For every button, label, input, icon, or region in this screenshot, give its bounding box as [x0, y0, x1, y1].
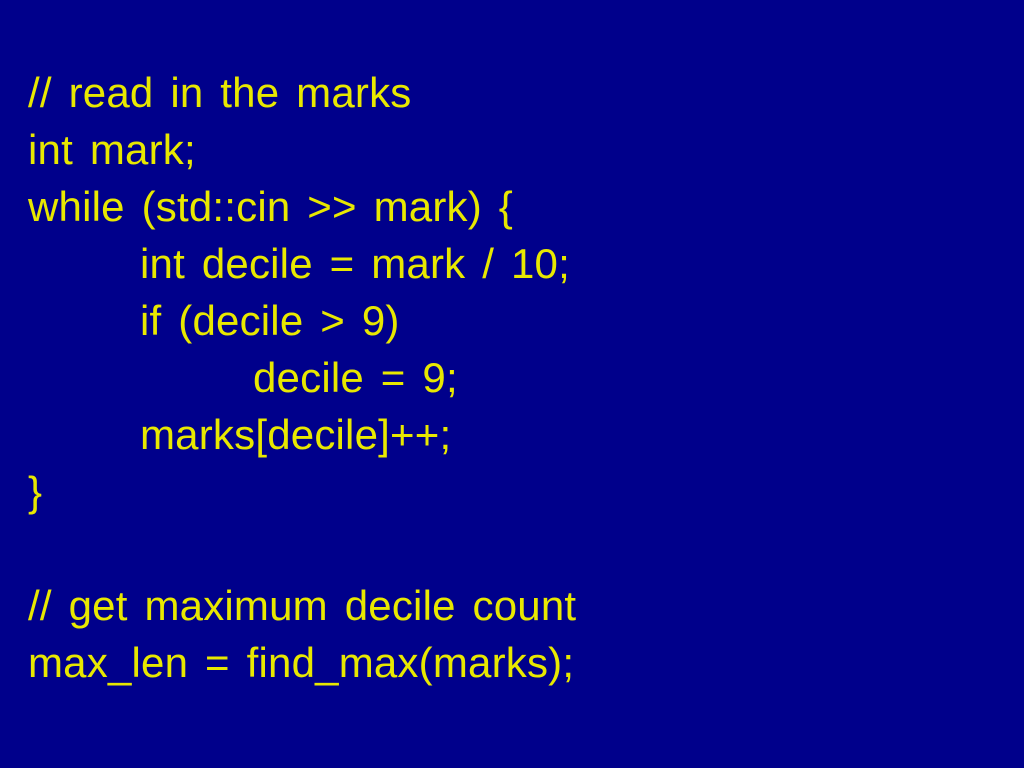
code-line: max_len = find_max(marks);	[28, 634, 1008, 691]
code-line: decile = 9;	[28, 349, 1008, 406]
code-line: int decile = mark / 10;	[28, 235, 1008, 292]
code-line: if (decile > 9)	[28, 292, 1008, 349]
slide-canvas: // read in the marksint mark;while (std:…	[0, 0, 1024, 768]
code-line: int mark;	[28, 121, 1008, 178]
code-line: // read in the marks	[28, 64, 1008, 121]
code-block: // read in the marksint mark;while (std:…	[28, 64, 1008, 691]
code-line: marks[decile]++;	[28, 406, 1008, 463]
code-line: }	[28, 463, 1008, 520]
code-line: // get maximum decile count	[28, 577, 1008, 634]
code-line: while (std::cin >> mark) {	[28, 178, 1008, 235]
code-line-blank	[28, 520, 1008, 577]
